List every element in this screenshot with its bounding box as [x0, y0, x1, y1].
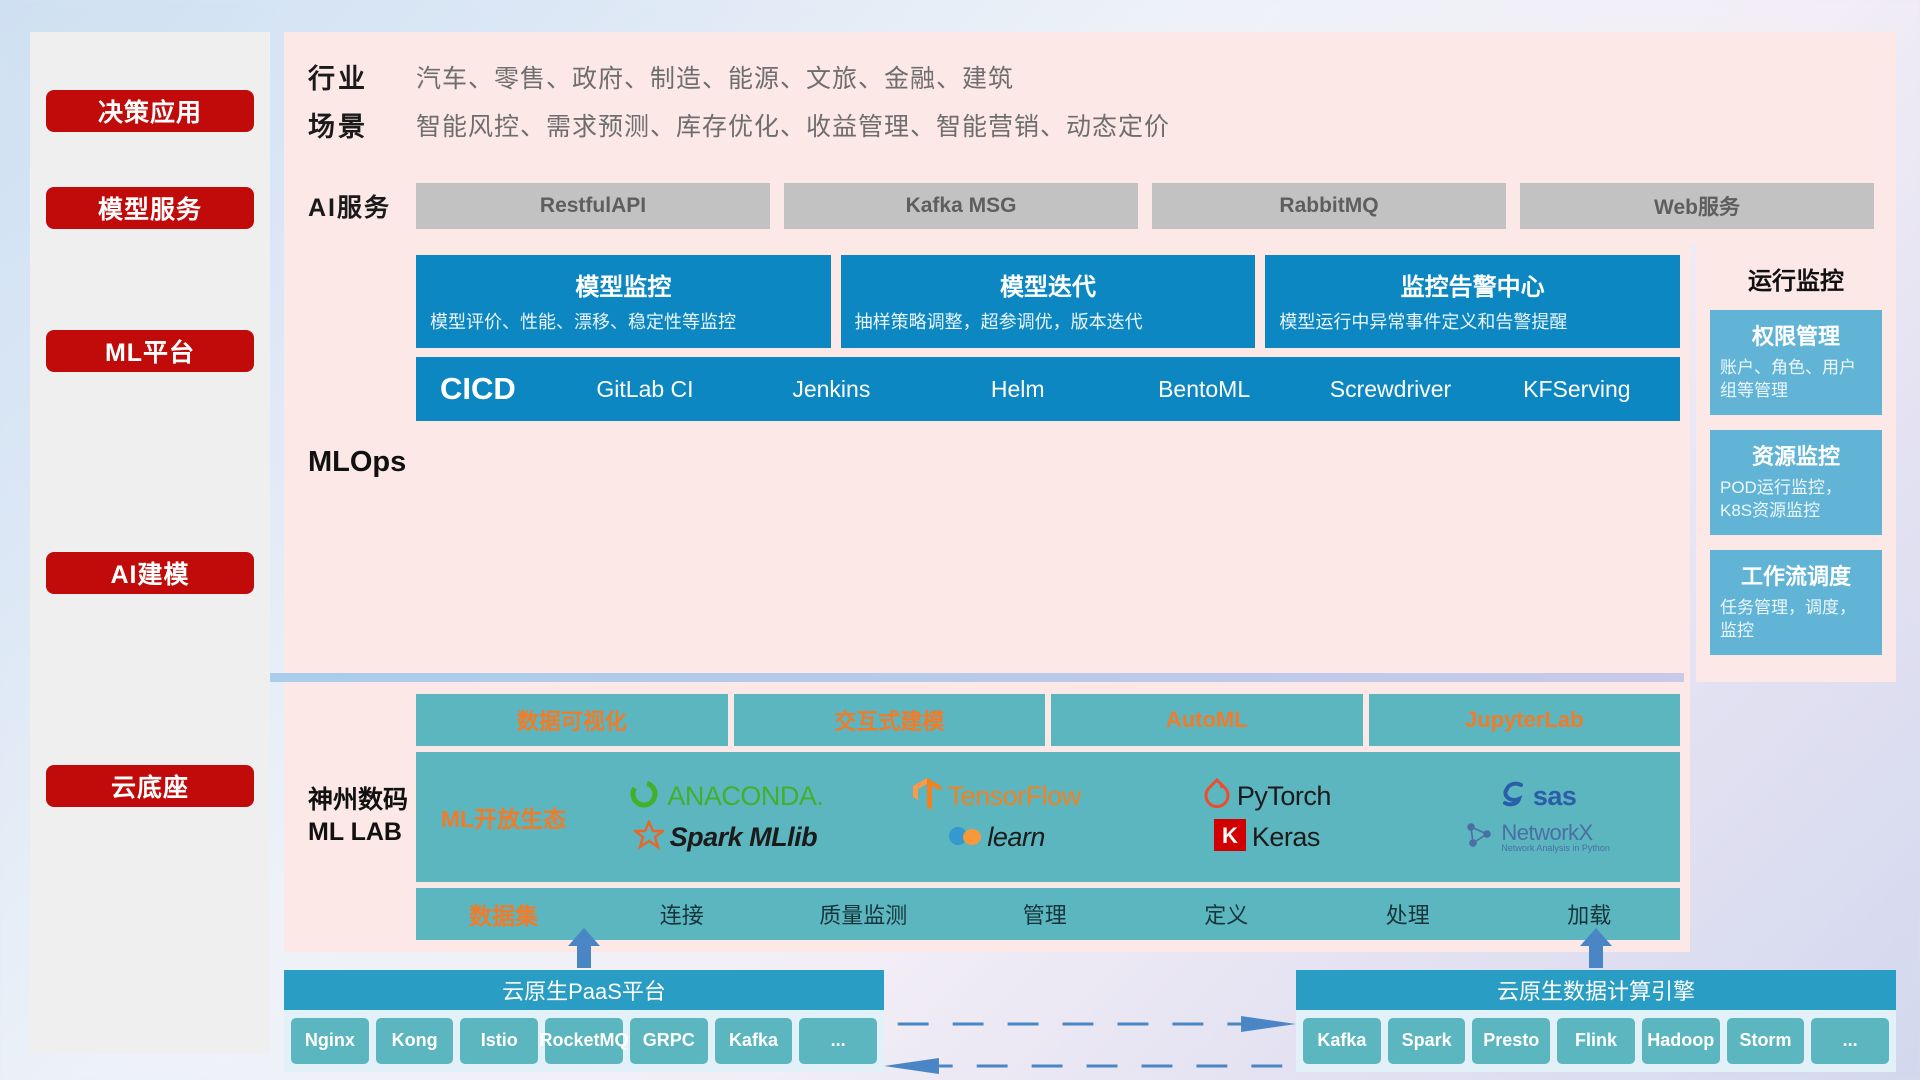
scenario-label: 场景 — [308, 105, 416, 144]
rail-tag-label: 模型服务 — [98, 190, 202, 226]
sas-icon — [1499, 779, 1527, 814]
cloud-data-engine-title: 云原生数据计算引擎 — [1296, 970, 1896, 1010]
ml-lab-content: 数据可视化 交互式建模 AutoML JupyterLab ML开放生态 — [416, 694, 1690, 940]
paas-chip-kong[interactable]: Kong — [376, 1018, 454, 1064]
mlops-content: 模型监控 模型评价、性能、漂移、稳定性等监控 模型迭代 抽样策略调整，超参调优，… — [416, 255, 1690, 670]
decision-apps-band: 行业 汽车、零售、政府、制造、能源、文旅、金融、建筑 场景 智能风控、需求预测、… — [284, 32, 1896, 169]
band-divider — [270, 673, 1684, 682]
engine-chip-spark[interactable]: Spark — [1388, 1018, 1466, 1064]
ml-ecosystem-row: ML开放生态 ANACONDA. — [416, 752, 1680, 882]
mlops-label: MLOps — [308, 255, 416, 670]
logo-spark-mllib: Spark MLlib — [634, 820, 818, 855]
ml-lab-label-line2: ML LAB — [308, 817, 408, 848]
ml-lab-tab-interactive-modeling[interactable]: 交互式建模 — [734, 694, 1046, 746]
rail-tag-ai-modeling[interactable]: AI建模 — [46, 552, 254, 594]
ml-ecosystem-logos: ANACONDA. TensorFlow — [591, 777, 1672, 857]
monitor-card-permission[interactable]: 权限管理 账户、角色、用户组等管理 — [1710, 310, 1882, 415]
architecture-diagram: 决策应用 模型服务 ML平台 AI建模 云底座 行业 汽车、零售、政府、制造、能… — [0, 0, 1920, 1080]
card-desc: 模型评价、性能、漂移、稳定性等监控 — [430, 310, 817, 334]
logo-label: TensorFlow — [948, 781, 1081, 812]
paas-chip-grpc[interactable]: GRPC — [630, 1018, 708, 1064]
logo-sas: sas — [1499, 779, 1577, 814]
dataset-action-quality[interactable]: 质量监测 — [773, 898, 955, 930]
main-column: 行业 汽车、零售、政府、制造、能源、文旅、金融、建筑 场景 智能风控、需求预测、… — [284, 32, 1896, 1054]
logo-label: ANACONDA. — [667, 781, 823, 812]
cloud-paas-chips: Nginx Kong Istio RocketMQ GRPC Kafka ... — [284, 1010, 884, 1072]
tensorflow-icon — [912, 777, 942, 816]
industry-values: 汽车、零售、政府、制造、能源、文旅、金融、建筑 — [416, 59, 1014, 95]
card-desc: POD运行监控，K8S资源监控 — [1720, 477, 1872, 523]
industry-label: 行业 — [308, 57, 416, 96]
ml-lab-label-line1: 神州数码 — [308, 785, 408, 816]
logo-label: Spark MLlib — [670, 822, 818, 853]
logo-label: learn — [987, 822, 1045, 853]
cloud-paas-title: 云原生PaaS平台 — [284, 970, 884, 1010]
scenario-row: 场景 智能风控、需求预测、库存优化、收益管理、智能营销、动态定价 — [308, 105, 1874, 144]
rail-tag-label: 决策应用 — [98, 93, 202, 129]
mlops-card-alert-center[interactable]: 监控告警中心 模型运行中异常事件定义和告警提醒 — [1265, 255, 1680, 348]
card-title: 资源监控 — [1720, 439, 1872, 471]
svg-text:K: K — [1222, 823, 1238, 848]
paas-chip-istio[interactable]: Istio — [460, 1018, 538, 1064]
card-desc: 任务管理，调度，监控 — [1720, 597, 1872, 643]
logo-pytorch: PyTorch — [1203, 778, 1331, 815]
cloud-base-section: 云原生PaaS平台 Nginx Kong Istio RocketMQ GRPC… — [284, 970, 1896, 1072]
paas-chip-more[interactable]: ... — [799, 1018, 877, 1064]
rail-tag-label: ML平台 — [105, 333, 195, 369]
ml-lab-tab-data-visualization[interactable]: 数据可视化 — [416, 694, 728, 746]
ml-lab-section: 神州数码 ML LAB 数据可视化 交互式建模 AutoML JupyterLa… — [284, 682, 1896, 952]
ai-service-chips: RestfulAPI Kafka MSG RabbitMQ Web服务 — [416, 183, 1874, 229]
engine-chip-kafka[interactable]: Kafka — [1303, 1018, 1381, 1064]
card-title: 模型监控 — [430, 267, 817, 302]
engine-chip-hadoop[interactable]: Hadoop — [1642, 1018, 1720, 1064]
cicd-tool-jenkins[interactable]: Jenkins — [738, 377, 924, 401]
monitor-card-resource[interactable]: 资源监控 POD运行监控，K8S资源监控 — [1710, 430, 1882, 535]
service-chip-kafka-msg[interactable]: Kafka MSG — [784, 183, 1138, 229]
logo-tensorflow: TensorFlow — [912, 777, 1081, 816]
cicd-tool-helm[interactable]: Helm — [925, 377, 1111, 401]
logo-keras: K Keras — [1214, 819, 1320, 856]
mlops-card-model-monitoring[interactable]: 模型监控 模型评价、性能、漂移、稳定性等监控 — [416, 255, 831, 348]
engine-chip-storm[interactable]: Storm — [1727, 1018, 1805, 1064]
industry-row: 行业 汽车、零售、政府、制造、能源、文旅、金融、建筑 — [308, 57, 1874, 96]
monitor-column-spacer — [1696, 682, 1896, 952]
mlops-section: MLOps 模型监控 模型评价、性能、漂移、稳定性等监控 模型迭代 抽样策略调整… — [284, 243, 1896, 682]
rail-tag-ml-platform[interactable]: ML平台 — [46, 330, 254, 372]
cloud-data-engine: 云原生数据计算引擎 Kafka Spark Presto Flink Hadoo… — [1296, 970, 1896, 1072]
anaconda-icon — [627, 777, 661, 816]
cicd-tool-gitlab-ci[interactable]: GitLab CI — [552, 377, 738, 401]
networkx-icon — [1465, 820, 1495, 855]
mlops-band: MLOps 模型监控 模型评价、性能、漂移、稳定性等监控 模型迭代 抽样策略调整… — [284, 243, 1690, 682]
service-chip-rabbitmq[interactable]: RabbitMQ — [1152, 183, 1506, 229]
scikit-learn-icon — [947, 820, 981, 855]
ml-lab-label: 神州数码 ML LAB — [308, 694, 416, 940]
cicd-tool-bentoml[interactable]: BentoML — [1111, 377, 1297, 401]
cicd-row: CICD GitLab CI Jenkins Helm BentoML Scre… — [416, 357, 1680, 421]
paas-chip-rocketmq[interactable]: RocketMQ — [545, 1018, 623, 1064]
rail-tag-decision-apps[interactable]: 决策应用 — [46, 90, 254, 132]
card-title: 工作流调度 — [1720, 559, 1872, 591]
paas-chip-kafka[interactable]: Kafka — [715, 1018, 793, 1064]
logo-label: NetworkX — [1501, 822, 1610, 844]
rail-tag-model-service[interactable]: 模型服务 — [46, 187, 254, 229]
logo-anaconda: ANACONDA. — [627, 777, 823, 816]
ml-lab-tabs: 数据可视化 交互式建模 AutoML JupyterLab — [416, 694, 1680, 746]
cicd-tools: GitLab CI Jenkins Helm BentoML Screwdriv… — [552, 377, 1670, 401]
card-title: 监控告警中心 — [1279, 267, 1666, 302]
card-desc: 账户、角色、用户组等管理 — [1720, 357, 1872, 403]
cicd-label: CICD — [440, 371, 516, 407]
runtime-monitor-title: 运行监控 — [1710, 261, 1882, 296]
ml-lab-band: 神州数码 ML LAB 数据可视化 交互式建模 AutoML JupyterLa… — [284, 682, 1690, 952]
service-chip-web[interactable]: Web服务 — [1520, 183, 1874, 229]
dataset-action-connect[interactable]: 连接 — [591, 898, 773, 930]
dataset-action-define[interactable]: 定义 — [1136, 898, 1318, 930]
ai-service-band: AI服务 RestfulAPI Kafka MSG RabbitMQ Web服务 — [284, 169, 1896, 243]
bidirectional-dashed-arrows-icon — [884, 1004, 1296, 1080]
mlops-card-model-iteration[interactable]: 模型迭代 抽样策略调整，超参调优，版本迭代 — [841, 255, 1256, 348]
dataset-action-load[interactable]: 加载 — [1499, 898, 1681, 930]
dataset-row: 数据集 连接 质量监测 管理 定义 处理 加载 — [416, 888, 1680, 940]
ml-lab-tab-jupyterlab[interactable]: JupyterLab — [1369, 694, 1681, 746]
dataset-action-manage[interactable]: 管理 — [954, 898, 1136, 930]
paas-chip-nginx[interactable]: Nginx — [291, 1018, 369, 1064]
cloud-paas-platform: 云原生PaaS平台 Nginx Kong Istio RocketMQ GRPC… — [284, 970, 884, 1072]
logo-networkx: NetworkX Network Analysis in Python — [1465, 820, 1610, 855]
cloud-data-engine-chips: Kafka Spark Presto Flink Hadoop Storm ..… — [1296, 1010, 1896, 1072]
cicd-tool-kfserving[interactable]: KFServing — [1484, 377, 1670, 401]
rail-tag-label: 云底座 — [111, 768, 189, 804]
mlops-cards: 模型监控 模型评价、性能、漂移、稳定性等监控 模型迭代 抽样策略调整，超参调优，… — [416, 255, 1680, 348]
runtime-monitor-panel: 运行监控 权限管理 账户、角色、用户组等管理 资源监控 POD运行监控，K8S资… — [1696, 243, 1896, 682]
ai-service-label: AI服务 — [308, 188, 416, 224]
monitor-card-workflow[interactable]: 工作流调度 任务管理，调度，监控 — [1710, 550, 1882, 655]
layer-rail: 决策应用 模型服务 ML平台 AI建模 云底座 — [30, 32, 270, 1054]
service-chip-restfulapi[interactable]: RestfulAPI — [416, 183, 770, 229]
ml-ecosystem-label: ML开放生态 — [416, 800, 591, 834]
keras-icon: K — [1214, 819, 1246, 856]
spark-icon — [634, 820, 664, 855]
dataset-action-process[interactable]: 处理 — [1317, 898, 1499, 930]
ml-lab-tab-automl[interactable]: AutoML — [1051, 694, 1363, 746]
rail-tag-cloud-base[interactable]: 云底座 — [46, 765, 254, 807]
logo-label: PyTorch — [1237, 781, 1331, 812]
card-title: 模型迭代 — [855, 267, 1242, 302]
arrow-up-icon — [564, 928, 604, 968]
card-desc: 抽样策略调整，超参调优，版本迭代 — [855, 310, 1242, 334]
arrow-up-icon — [1576, 928, 1616, 968]
logo-scikit-learn: learn — [947, 820, 1045, 855]
engine-chip-presto[interactable]: Presto — [1472, 1018, 1550, 1064]
engine-chip-more[interactable]: ... — [1811, 1018, 1889, 1064]
logo-label: sas — [1533, 781, 1577, 812]
engine-chip-flink[interactable]: Flink — [1557, 1018, 1635, 1064]
card-title: 权限管理 — [1720, 319, 1872, 351]
cicd-tool-screwdriver[interactable]: Screwdriver — [1297, 377, 1483, 401]
dataset-actions: 连接 质量监测 管理 定义 处理 加载 — [591, 898, 1680, 930]
rail-tag-label: AI建模 — [110, 555, 189, 591]
dataset-label: 数据集 — [416, 897, 591, 931]
networkx-subtitle: Network Analysis in Python — [1501, 844, 1610, 853]
logo-label: Keras — [1252, 822, 1320, 853]
scenario-values: 智能风控、需求预测、库存优化、收益管理、智能营销、动态定价 — [416, 107, 1170, 143]
card-desc: 模型运行中异常事件定义和告警提醒 — [1279, 310, 1666, 334]
pytorch-icon — [1203, 778, 1231, 815]
